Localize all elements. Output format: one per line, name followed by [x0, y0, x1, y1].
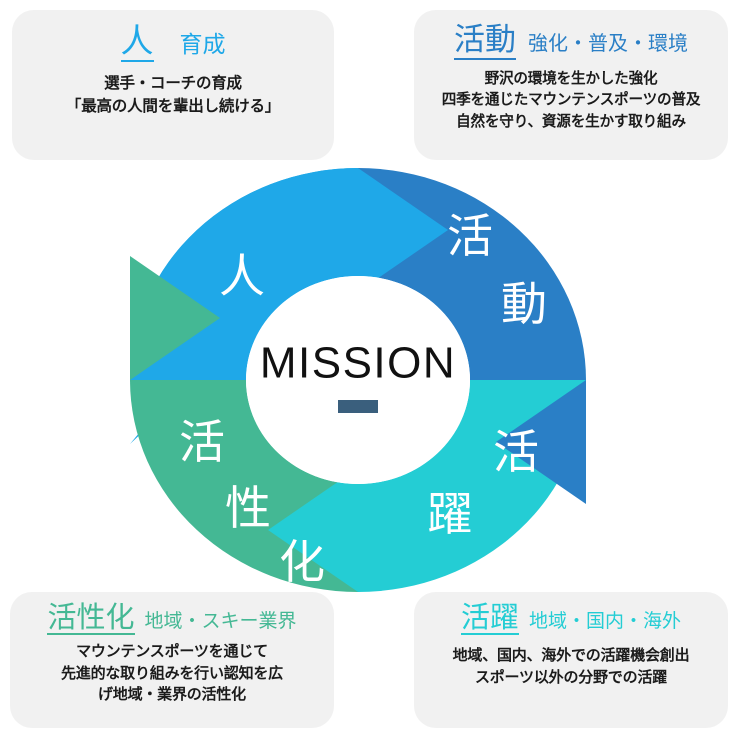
card-hito-body: 選手・コーチの育成 「最高の人間を輩出し続ける」 — [66, 72, 280, 118]
card-kasseika-header: 活性化 地域・スキー業界 — [47, 602, 296, 635]
card-kasseika-body: マウンテンスポーツを通じて 先進的な取り組みを行い認知を広 げ地域・業界の活性化 — [61, 641, 283, 705]
segment-label-kasseika-3: 化 — [279, 535, 325, 589]
card-hito-header: 人 育成 — [121, 24, 226, 62]
segment-label-hito: 人 — [219, 249, 265, 303]
card-hito-subtitle: 育成 — [180, 33, 226, 57]
mission-diagram: 人 育成 選手・コーチの育成 「最高の人間を輩出し続ける」 活動 強化・普及・環… — [0, 0, 736, 736]
mission-dash — [338, 400, 378, 413]
segment-label-katsudou-1: 活 — [447, 209, 493, 263]
card-kasseika: 活性化 地域・スキー業界 マウンテンスポーツを通じて 先進的な取り組みを行い認知… — [10, 592, 334, 728]
segment-label-katsudou-2: 動 — [501, 277, 547, 331]
card-katsuyaku: 活躍 地域・国内・海外 地域、国内、海外での活躍機会創出 スポーツ以外の分野での… — [414, 592, 728, 728]
mission-label: MISSION — [260, 339, 456, 388]
card-katsudou-body: 野沢の環境を生かした強化 四季を通じたマウンテンスポーツの普及 自然を守り、資源… — [442, 68, 701, 133]
card-hito: 人 育成 選手・コーチの育成 「最高の人間を輩出し続ける」 — [12, 10, 334, 160]
segment-label-katsuyaku-1: 活 — [493, 425, 539, 479]
segment-label-kasseika-2: 性 — [225, 481, 271, 535]
card-katsudou: 活動 強化・普及・環境 野沢の環境を生かした強化 四季を通じたマウンテンスポーツ… — [414, 10, 728, 160]
segment-label-kasseika-1: 活 — [179, 415, 225, 469]
card-katsudou-kanji: 活動 — [454, 24, 516, 60]
card-katsudou-header: 活動 強化・普及・環境 — [454, 24, 688, 60]
card-katsuyaku-kanji: 活躍 — [461, 602, 519, 635]
card-hito-kanji: 人 — [121, 24, 154, 62]
card-katsudou-subtitle: 強化・普及・環境 — [528, 33, 688, 54]
card-katsuyaku-subtitle: 地域・国内・海外 — [529, 612, 681, 632]
card-kasseika-subtitle: 地域・スキー業界 — [145, 612, 297, 632]
segment-label-katsuyaku-2: 躍 — [427, 487, 473, 541]
mission-cycle-wheel: 人 活 動 活 躍 活 性 化 MISSION — [130, 168, 586, 592]
card-kasseika-kanji: 活性化 — [47, 602, 134, 635]
cycle-donut-svg: 人 活 動 活 躍 活 性 化 MISSION — [130, 168, 586, 592]
card-katsuyaku-header: 活躍 地域・国内・海外 — [461, 602, 681, 635]
card-katsuyaku-body: 地域、国内、海外での活躍機会創出 スポーツ以外の分野での活躍 — [453, 645, 690, 689]
